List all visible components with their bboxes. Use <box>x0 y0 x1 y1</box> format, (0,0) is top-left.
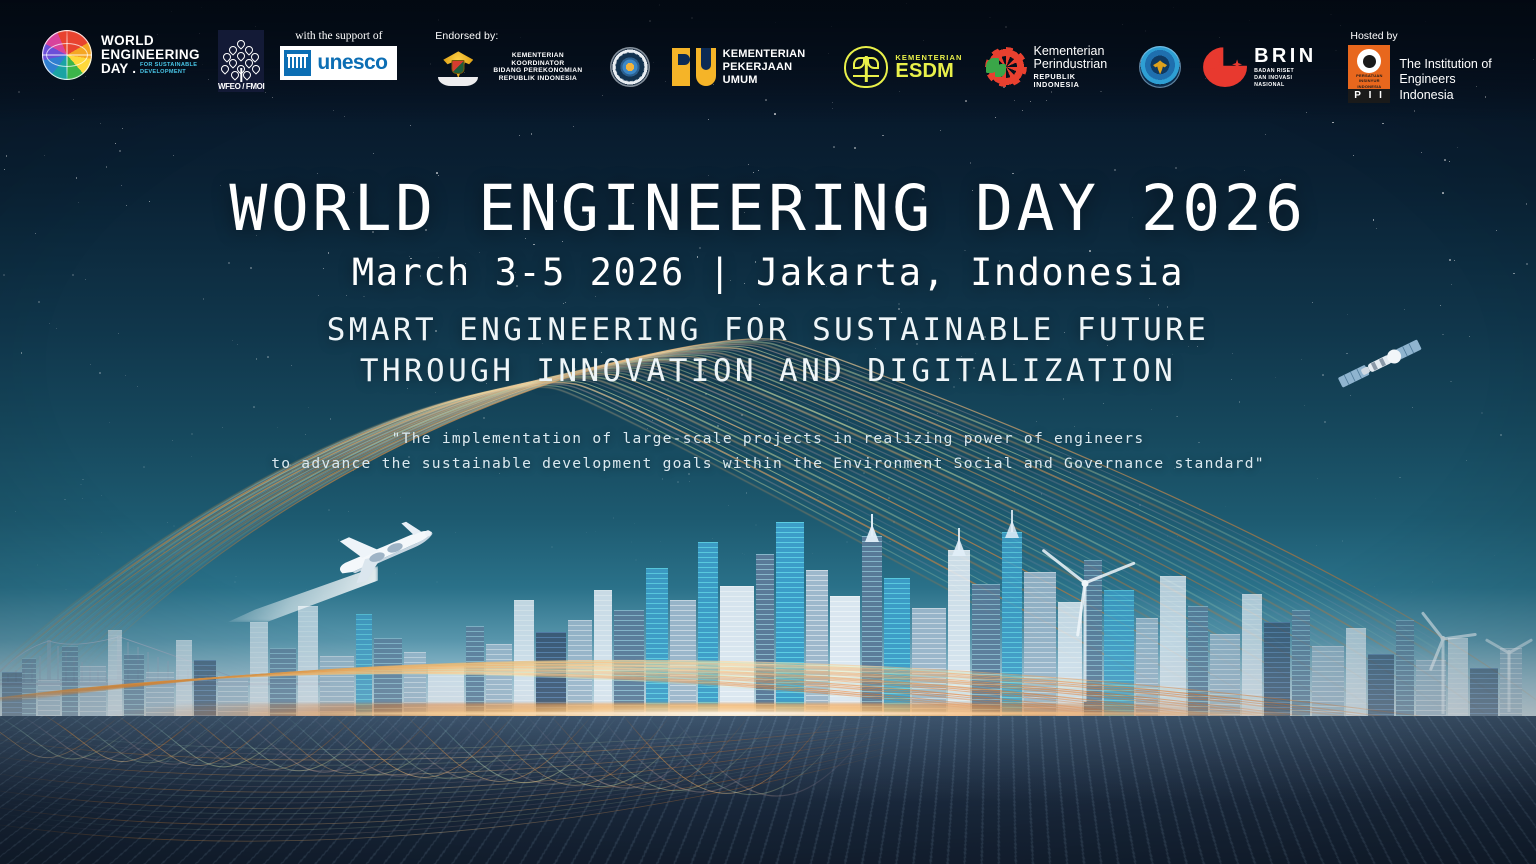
wind-turbine-icon <box>1486 650 1532 712</box>
building <box>218 676 248 718</box>
wed-line-3: DAY <box>101 62 128 76</box>
wed-dot: . <box>132 62 136 76</box>
brin-sub-1: BADAN RISET <box>1254 68 1318 75</box>
brin-sub-2: DAN INOVASI NASIONAL <box>1254 75 1318 89</box>
logo-brin: BRIN BADAN RISET DAN INOVASI NASIONAL <box>1203 46 1318 89</box>
endorsed-caption: Endorsed by: <box>435 30 1318 42</box>
building <box>594 590 612 718</box>
logo-kementerian-kelautan-perikanan <box>1139 46 1181 88</box>
building <box>1084 560 1102 718</box>
building <box>1346 628 1366 718</box>
building <box>646 568 668 718</box>
kemenko-line-1: KEMENTERIAN KOORDINATOR <box>488 52 587 68</box>
pii-ring-3: INDONESIA <box>1356 84 1382 89</box>
hosted-caption: Hosted by <box>1350 30 1397 42</box>
building <box>62 646 78 718</box>
airplane-icon <box>318 518 448 588</box>
building <box>108 630 122 718</box>
contrail <box>228 566 378 622</box>
building <box>698 542 718 718</box>
building <box>356 614 372 718</box>
perindustrian-line-1: Kementerian <box>1034 45 1118 58</box>
building <box>1264 622 1290 718</box>
pu-icon <box>672 48 716 86</box>
pii-name-line-2: Engineers Indonesia <box>1399 72 1508 103</box>
building <box>884 578 910 718</box>
kemenko-line-3: REPUBLIK INDONESIA <box>488 75 587 83</box>
building <box>972 584 1000 718</box>
wed-line-1: WORLD <box>101 34 200 48</box>
city-skyline <box>0 488 1536 718</box>
unesco-wordmark: unesco <box>317 51 387 75</box>
pii-logo-icon: PERSATUAN INSINYUR INDONESIA P I I <box>1348 45 1390 103</box>
unesco-logo: unesco <box>280 46 397 80</box>
building-crown <box>952 538 966 556</box>
building <box>486 644 512 718</box>
globe-icon <box>42 30 92 80</box>
building <box>2 672 22 718</box>
building <box>428 666 464 718</box>
building <box>720 586 754 718</box>
theme-line-1: SMART ENGINEERING FOR SUSTAINABLE FUTURE <box>0 310 1536 351</box>
building <box>756 554 774 718</box>
perindustrian-gear-icon <box>985 47 1027 87</box>
endorsed-by-block: Endorsed by: KEMENTERIAN KOORDINATOR BID… <box>435 30 1318 90</box>
horizon-light-line <box>215 712 1352 715</box>
building <box>1500 648 1522 718</box>
wed-line-2: ENGINEERING <box>101 48 200 62</box>
building-crown <box>865 524 879 542</box>
logo-kementerian-perindustrian: Kementerian Perindustrian REPUBLIK INDON… <box>985 45 1118 90</box>
building <box>1058 602 1082 718</box>
building <box>1024 572 1056 718</box>
building <box>1448 638 1468 718</box>
suspension-bridge <box>0 632 330 694</box>
quote-line-1: "The implementation of large-scale proje… <box>0 426 1536 451</box>
logo-kementerian-esdm: KEMENTERIAN ESDM <box>844 46 962 88</box>
sponsor-logo-bar: WORLD ENGINEERING DAY . FOR SUSTAINABLE … <box>0 0 1536 122</box>
building <box>1188 606 1208 718</box>
theme-line-2: THROUGH INNOVATION AND DIGITALIZATION <box>0 351 1536 392</box>
building <box>948 550 970 718</box>
building-crown <box>1005 520 1019 538</box>
perindustrian-line-3: REPUBLIK INDONESIA <box>1034 73 1118 90</box>
building <box>670 600 696 718</box>
quote-line-2: to advance the sustainable development g… <box>0 451 1536 476</box>
building <box>806 570 828 718</box>
pii-ring-2: INSINYUR <box>1356 78 1382 83</box>
building <box>830 596 860 718</box>
building <box>614 610 644 718</box>
support-caption: with the support of <box>295 30 382 42</box>
building <box>1368 654 1394 718</box>
building <box>776 522 804 718</box>
building-spire <box>1011 510 1013 532</box>
unesco-temple-icon <box>284 50 311 76</box>
striped-ground-plane <box>0 716 1536 864</box>
kkp-seal-icon <box>1139 46 1181 88</box>
building <box>1104 590 1134 718</box>
hosted-by-block: Hosted by PERSATUAN INSINYUR INDONESIA P… <box>1348 30 1508 103</box>
ministry-seal-icon <box>610 47 650 87</box>
building <box>298 606 318 718</box>
building <box>176 640 192 718</box>
building <box>912 608 946 718</box>
building <box>374 638 402 718</box>
wfeo-label: WFEO / FMOI <box>218 82 264 91</box>
building <box>1292 610 1310 718</box>
world-engineering-day-logo: WORLD ENGINEERING DAY . FOR SUSTAINABLE … <box>42 30 200 80</box>
pii-bar-label: P I I <box>1348 89 1390 103</box>
building <box>146 672 174 718</box>
building <box>270 648 296 718</box>
building <box>404 652 426 718</box>
building <box>194 660 216 718</box>
wind-turbine-icon <box>1040 580 1130 702</box>
building <box>1470 668 1498 718</box>
pu-line-1: KEMENTERIAN <box>723 48 823 61</box>
building <box>466 626 484 718</box>
building <box>1136 618 1158 718</box>
brin-icon <box>1203 47 1247 87</box>
building <box>536 632 566 718</box>
building <box>862 536 882 718</box>
pu-line-2: PEKERJAAN UMUM <box>723 61 823 87</box>
building <box>38 680 60 718</box>
logo-kementerian-pekerjaan-umum: KEMENTERIAN PEKERJAAN UMUM <box>672 48 823 87</box>
brin-wordmark: BRIN <box>1254 46 1318 66</box>
building <box>124 654 144 718</box>
esdm-line-2: ESDM <box>895 62 962 81</box>
logo-kementerian-pertahanan <box>610 47 650 87</box>
building <box>1312 646 1344 718</box>
esdm-icon <box>844 46 888 88</box>
horizon-glow <box>0 703 1536 729</box>
building <box>1210 634 1240 718</box>
building <box>1416 660 1446 718</box>
event-banner: WORLD ENGINEERING DAY . FOR SUSTAINABLE … <box>0 0 1536 864</box>
building <box>1242 594 1262 718</box>
building <box>568 620 592 718</box>
building <box>1396 620 1414 718</box>
kemenko-line-2: BIDANG PEREKONOMIAN <box>488 67 587 75</box>
wind-turbine-icon <box>1414 636 1472 714</box>
building <box>22 658 36 718</box>
unesco-support-block: with the support of unesco <box>280 30 397 80</box>
building <box>1160 576 1186 718</box>
garuda-icon <box>435 48 481 86</box>
wfeo-tree-icon <box>221 40 261 82</box>
wed-sub-1: FOR SUSTAINABLE <box>140 62 197 69</box>
wed-sub-2: DEVELOPMENT <box>140 69 197 76</box>
building <box>320 656 354 718</box>
headline-block: WORLD ENGINEERING DAY 2026 March 3-5 202… <box>0 176 1536 476</box>
building <box>250 622 268 718</box>
page-title: WORLD ENGINEERING DAY 2026 <box>0 176 1536 243</box>
logo-kemenko-perekonomian: KEMENTERIAN KOORDINATOR BIDANG PEREKONOM… <box>435 48 587 86</box>
event-date-location: March 3-5 2026 | Jakarta, Indonesia <box>0 251 1536 294</box>
building <box>514 600 534 718</box>
building-spire <box>958 528 960 550</box>
building <box>80 666 106 718</box>
building <box>1002 532 1022 718</box>
building-spire <box>871 514 873 536</box>
perindustrian-line-2: Perindustrian <box>1034 58 1118 71</box>
wfeo-logo: WFEO / FMOI <box>218 30 264 92</box>
pii-name-line-1: The Institution of <box>1399 57 1508 72</box>
